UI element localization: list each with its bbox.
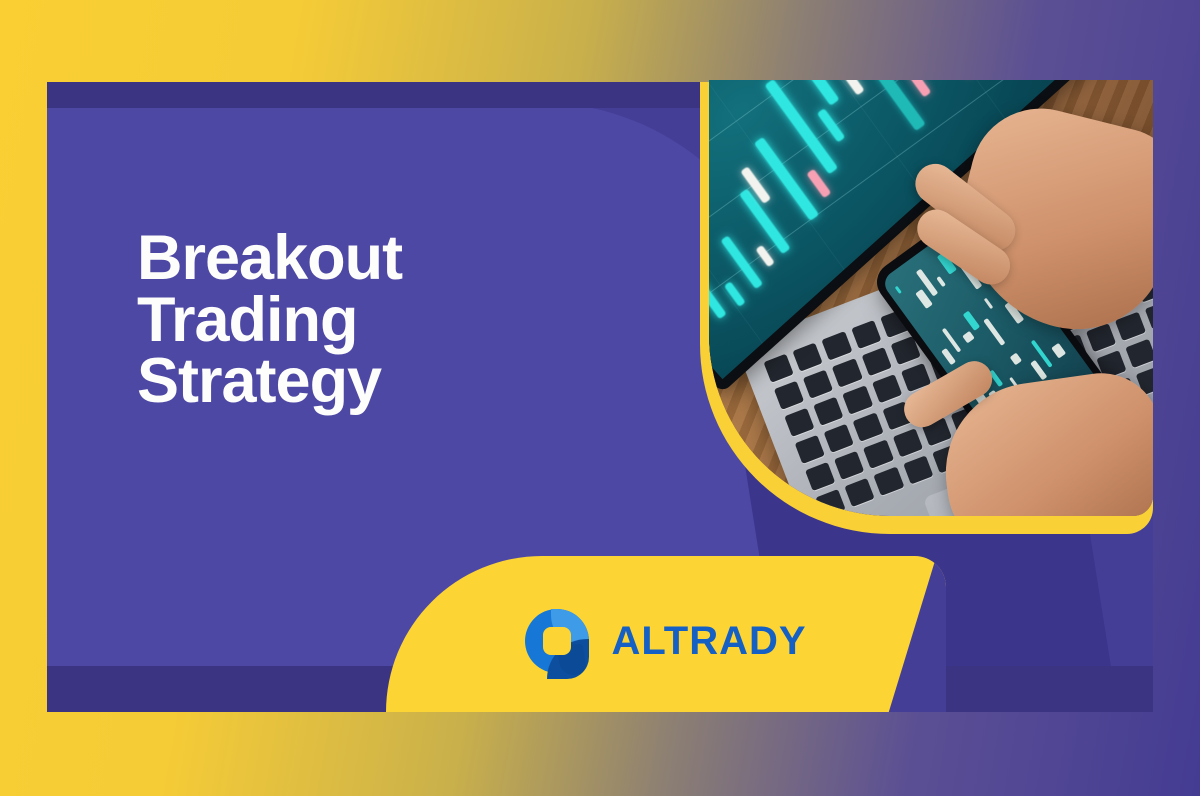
brand-name: ALTRADY	[611, 621, 806, 661]
altrady-logo-icon	[525, 609, 589, 673]
hero-image	[709, 80, 1153, 516]
title-line-2: Trading	[137, 290, 657, 352]
title-line-1: Breakout	[137, 228, 657, 290]
hero-image-panel	[700, 82, 1153, 534]
page-title: Breakout Trading Strategy	[137, 228, 657, 413]
brand-banner: ALTRADY	[386, 556, 946, 712]
title-line-3: Strategy	[137, 351, 657, 413]
hand-lower	[934, 366, 1153, 516]
outer-gradient-frame: Breakout Trading Strategy	[0, 0, 1200, 796]
